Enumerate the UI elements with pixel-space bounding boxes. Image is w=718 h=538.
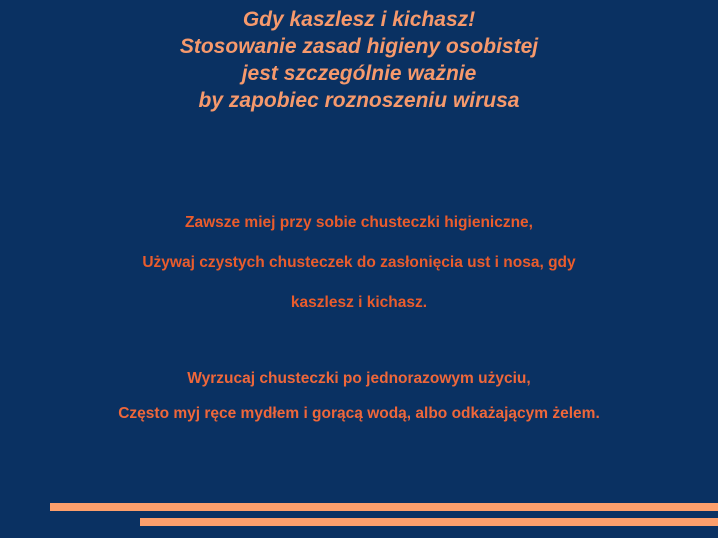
body-line-4: Wyrzucaj chusteczki po jednorazowym użyc…: [0, 361, 718, 396]
body-paragraph-2: Wyrzucaj chusteczki po jednorazowym użyc…: [0, 361, 718, 431]
body-paragraph-1: Zawsze miej przy sobie chusteczki higien…: [0, 203, 718, 323]
body-line-2: Używaj czystych chusteczek do zasłonięci…: [0, 243, 718, 283]
presentation-slide: Gdy kaszlesz i kichasz! Stosowanie zasad…: [0, 0, 718, 538]
accent-bar-lower: [140, 518, 718, 526]
accent-bar-upper: [50, 503, 718, 511]
slide-title: Gdy kaszlesz i kichasz! Stosowanie zasad…: [0, 6, 718, 114]
title-line-2: Stosowanie zasad higieny osobistej: [0, 33, 718, 60]
body-line-5: Często myj ręce mydłem i gorącą wodą, al…: [0, 396, 718, 431]
title-line-4: by zapobiec roznoszeniu wirusa: [0, 87, 718, 114]
title-line-1: Gdy kaszlesz i kichasz!: [0, 6, 718, 33]
body-line-3: kaszlesz i kichasz.: [0, 283, 718, 323]
body-line-1: Zawsze miej przy sobie chusteczki higien…: [0, 203, 718, 243]
title-line-3: jest szczególnie ważnie: [0, 60, 718, 87]
